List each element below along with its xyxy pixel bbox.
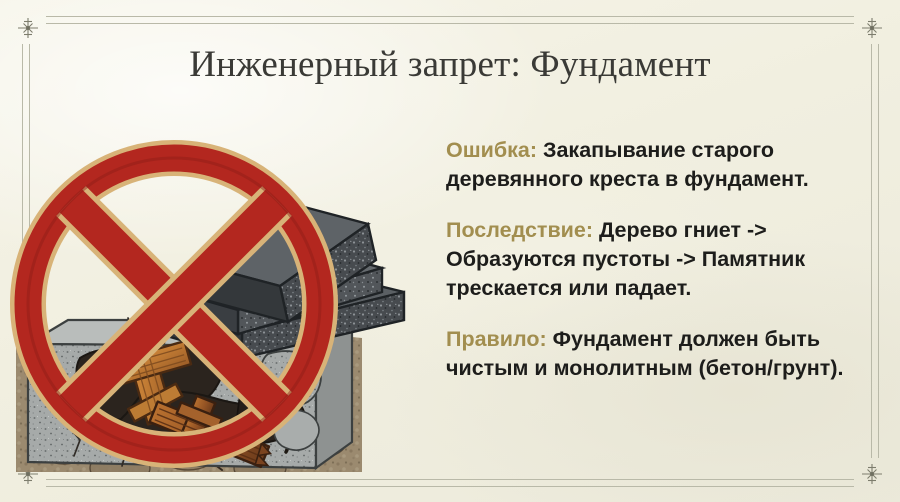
frame-line-bottom-inner: [46, 486, 854, 487]
block-label-rule: Правило:: [446, 327, 547, 351]
frame-line-right-outer: [871, 44, 872, 458]
content-block-consequence: Последствие: Дерево гниет -> Образуются …: [446, 216, 866, 303]
foundation-illustration: [10, 96, 430, 472]
block-label-error: Ошибка:: [446, 138, 537, 162]
frame-line-top-outer: [46, 16, 854, 17]
block-label-consequence: Последствие:: [446, 218, 593, 242]
text-column: Ошибка: Закапывание старого деревянного …: [446, 136, 866, 383]
content-block-rule: Правило: Фундамент должен быть чистым и …: [446, 325, 866, 383]
slide-canvas: Инженерный запрет: Фундамент: [0, 0, 900, 502]
corner-cross-ornament-top-left: [17, 17, 39, 39]
page-title: Инженерный запрет: Фундамент: [0, 44, 900, 86]
frame-line-bottom-outer: [46, 479, 854, 480]
frame-line-top-inner: [46, 23, 854, 24]
frame-line-right-inner: [878, 44, 879, 458]
content-block-error: Ошибка: Закапывание старого деревянного …: [446, 136, 866, 194]
corner-cross-ornament-top-right: [861, 17, 883, 39]
corner-cross-ornament-bottom-right: [861, 463, 883, 485]
